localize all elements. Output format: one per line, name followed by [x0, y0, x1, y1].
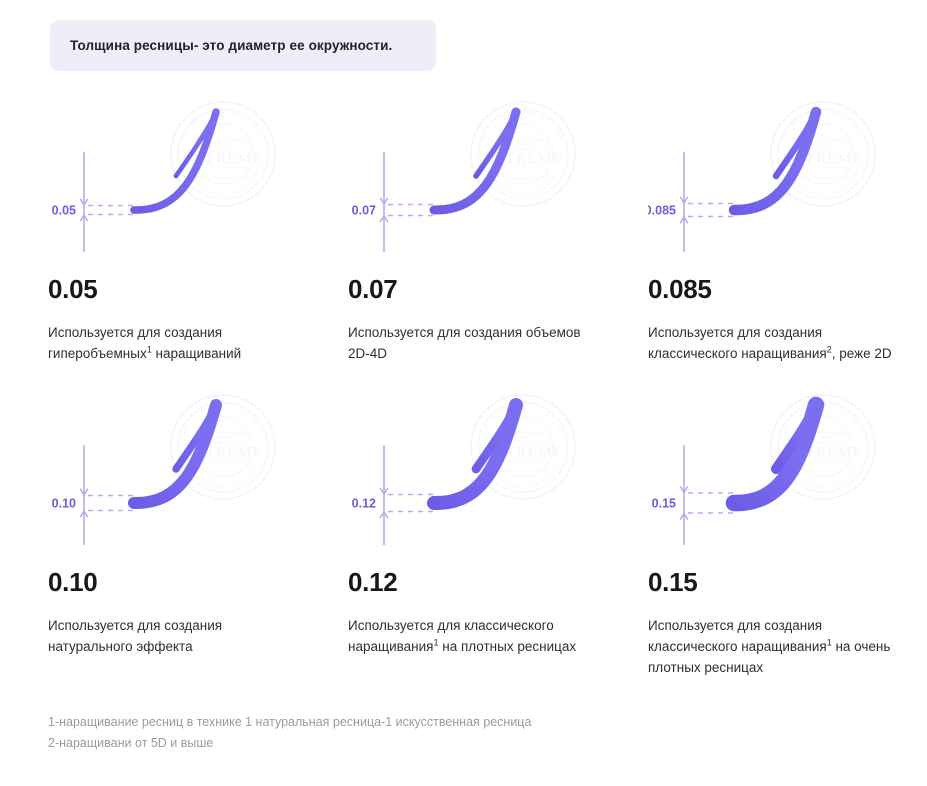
lash-diagram: EXTREME LOOK LASHES PROFESSIONAL PRODUCT…	[48, 385, 310, 545]
thickness-card-thickness-015: EXTREME LOOK LASHES PROFESSIONAL PRODUCT…	[648, 385, 927, 679]
svg-text:LOOK: LOOK	[816, 435, 831, 440]
lash-curve	[434, 112, 516, 210]
card-description: Используется для классического наращиван…	[348, 616, 596, 658]
lash-curve	[134, 405, 216, 503]
svg-text:EXTREME LOOK LASHES: EXTREME LOOK LASHES	[480, 109, 565, 142]
diagram-wrapper: EXTREME LOOK LASHES PROFESSIONAL PRODUCT…	[48, 92, 310, 252]
thickness-card-thickness-010: EXTREME LOOK LASHES PROFESSIONAL PRODUCT…	[48, 385, 348, 679]
footnote-ref: 1	[827, 637, 832, 647]
thickness-card-grid: EXTREME LOOK LASHES PROFESSIONAL PRODUCT…	[0, 92, 927, 679]
lash-diagram: EXTREME LOOK LASHES PROFESSIONAL PRODUCT…	[348, 385, 610, 545]
svg-text:LOOK: LOOK	[216, 142, 231, 147]
diagram-wrapper: EXTREME LOOK LASHES PROFESSIONAL PRODUCT…	[648, 92, 910, 252]
svg-text:EXTREME LOOK LASHES: EXTREME LOOK LASHES	[180, 109, 265, 142]
footnote-ref: 1	[433, 637, 438, 647]
card-title: 0.07	[348, 274, 648, 305]
footnote-ref: 1	[147, 344, 152, 354]
svg-text:LOOK: LOOK	[516, 435, 531, 440]
diagram-wrapper: EXTREME LOOK LASHES PROFESSIONAL PRODUCT…	[648, 385, 910, 545]
lash-diagram: EXTREME LOOK LASHES PROFESSIONAL PRODUCT…	[648, 385, 910, 545]
thickness-card-thickness-0085: EXTREME LOOK LASHES PROFESSIONAL PRODUCT…	[648, 92, 927, 385]
svg-text:EXTREME LOOK LASHES: EXTREME LOOK LASHES	[480, 402, 565, 435]
lash-curve	[734, 112, 816, 210]
diagram-wrapper: EXTREME LOOK LASHES PROFESSIONAL PRODUCT…	[348, 385, 610, 545]
svg-text:LOOK: LOOK	[516, 142, 531, 147]
footnote-line: 1-наращивание ресниц в технике 1 натурал…	[48, 712, 531, 733]
card-description: Используется для создания классического …	[648, 616, 896, 679]
card-description: Используется для создания гиперобъемных1…	[48, 323, 296, 365]
diagram-wrapper: EXTREME LOOK LASHES PROFESSIONAL PRODUCT…	[48, 385, 310, 545]
card-description: Используется для создания объемов 2D-4D	[348, 323, 596, 365]
footnotes: 1-наращивание ресниц в технике 1 натурал…	[48, 712, 531, 753]
card-description: Используется для создания классического …	[648, 323, 896, 365]
thickness-card-thickness-012: EXTREME LOOK LASHES PROFESSIONAL PRODUCT…	[348, 385, 648, 679]
lash-diagram: EXTREME LOOK LASHES PROFESSIONAL PRODUCT…	[648, 92, 910, 252]
card-title: 0.15	[648, 567, 927, 598]
lash-diagram: EXTREME LOOK LASHES PROFESSIONAL PRODUCT…	[48, 92, 310, 252]
measure-label: 0.12	[352, 497, 376, 511]
measure-label: 0.085	[648, 204, 676, 218]
lash-thickness-infographic: Толщина ресницы- это диаметр ее окружнос…	[0, 0, 927, 786]
card-description: Используется для создания натурального э…	[48, 616, 296, 658]
card-title: 0.12	[348, 567, 648, 598]
card-title: 0.10	[48, 567, 348, 598]
measure-label: 0.15	[652, 497, 676, 511]
header-badge: Толщина ресницы- это диаметр ее окружнос…	[50, 20, 436, 71]
measure-label: 0.05	[52, 204, 76, 218]
footnote-line: 2-наращивани от 5D и выше	[48, 733, 531, 754]
card-title: 0.085	[648, 274, 927, 305]
measure-label: 0.10	[52, 497, 76, 511]
svg-text:LOOK: LOOK	[816, 142, 831, 147]
header-badge-text: Толщина ресницы- это диаметр ее окружнос…	[70, 38, 392, 53]
svg-text:EXTREME LOOK LASHES: EXTREME LOOK LASHES	[180, 402, 265, 435]
svg-text:EXTREME LOOK LASHES: EXTREME LOOK LASHES	[780, 109, 865, 142]
svg-text:LOOK: LOOK	[216, 435, 231, 440]
thickness-card-thickness-005: EXTREME LOOK LASHES PROFESSIONAL PRODUCT…	[48, 92, 348, 385]
watermark-stamp: EXTREME LOOK LASHES PROFESSIONAL PRODUCT…	[171, 102, 275, 206]
diagram-wrapper: EXTREME LOOK LASHES PROFESSIONAL PRODUCT…	[348, 92, 610, 252]
card-title: 0.05	[48, 274, 348, 305]
lash-diagram: EXTREME LOOK LASHES PROFESSIONAL PRODUCT…	[348, 92, 610, 252]
measure-label: 0.07	[352, 204, 376, 218]
thickness-card-thickness-007: EXTREME LOOK LASHES PROFESSIONAL PRODUCT…	[348, 92, 648, 385]
footnote-ref: 2	[827, 344, 832, 354]
